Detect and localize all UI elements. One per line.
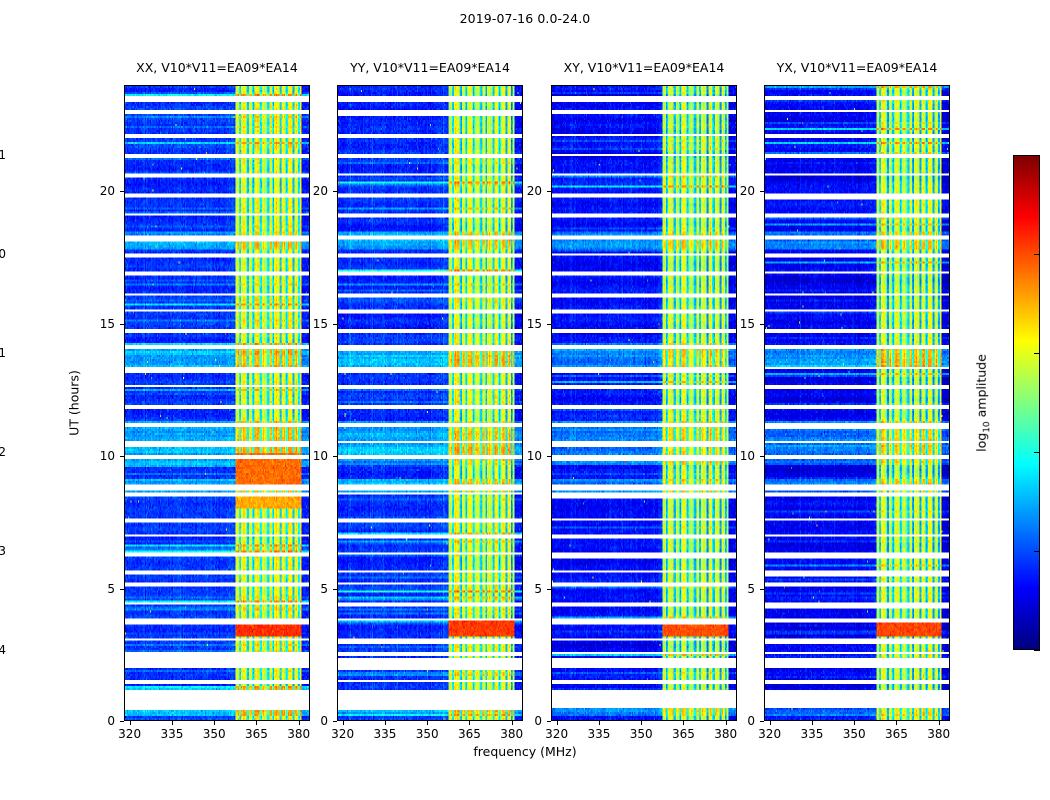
colorbar-label-suffix: amplitude [974, 354, 989, 421]
colorbar-tick-mark [1034, 551, 1040, 552]
y-tick-mark [333, 721, 337, 722]
y-tick-mark [333, 589, 337, 590]
y-tick-mark [547, 589, 551, 590]
x-tick-label: 380 [287, 727, 310, 741]
waterfall-image-yy [338, 86, 522, 720]
y-tick-mark [760, 589, 764, 590]
panel-title-xy: XY, V10*V11=EA09*EA14 [551, 60, 737, 75]
y-tick-mark [760, 191, 764, 192]
colorbar-label: log10 amplitude [974, 354, 993, 452]
y-tick-mark [333, 191, 337, 192]
y-tick-label: 0 [107, 714, 115, 728]
x-tick-mark [256, 721, 257, 725]
y-tick-label: 0 [747, 714, 755, 728]
x-axis-label: frequency (MHz) [0, 744, 1050, 759]
y-tick-mark [333, 324, 337, 325]
colorbar-tick-label: -2 [0, 445, 6, 459]
x-tick-label: 335 [800, 727, 823, 741]
y-tick-label: 5 [107, 582, 115, 596]
y-tick-label: 15 [527, 317, 542, 331]
waterfall-image-yx [765, 86, 949, 720]
x-tick-mark [469, 721, 470, 725]
y-tick-mark [120, 721, 124, 722]
y-tick-label: 10 [313, 449, 328, 463]
y-tick-label: 5 [320, 582, 328, 596]
waterfall-image-xx [125, 86, 309, 720]
x-tick-mark [343, 721, 344, 725]
y-tick-mark [760, 721, 764, 722]
y-tick-label: 15 [100, 317, 115, 331]
y-tick-label: 5 [534, 582, 542, 596]
colorbar-tick-label: 1 [0, 148, 6, 162]
x-tick-mark [896, 721, 897, 725]
waterfall-panel-yx[interactable] [764, 85, 950, 721]
x-tick-label: 365 [245, 727, 268, 741]
x-tick-label: 365 [885, 727, 908, 741]
y-tick-mark [333, 456, 337, 457]
x-tick-label: 320 [545, 727, 568, 741]
x-tick-mark [641, 721, 642, 725]
x-tick-label: 365 [458, 727, 481, 741]
x-tick-mark [385, 721, 386, 725]
panel-title-xx: XX, V10*V11=EA09*EA14 [124, 60, 310, 75]
y-tick-mark [547, 191, 551, 192]
y-tick-mark [547, 456, 551, 457]
y-tick-mark [120, 324, 124, 325]
waterfall-image-xy [552, 86, 736, 720]
colorbar-tick-mark [1034, 452, 1040, 453]
y-tick-label: 15 [740, 317, 755, 331]
x-tick-mark [854, 721, 855, 725]
y-tick-mark [760, 456, 764, 457]
x-tick-mark [214, 721, 215, 725]
panel-title-yy: YY, V10*V11=EA09*EA14 [337, 60, 523, 75]
panel-title-yx: YX, V10*V11=EA09*EA14 [764, 60, 950, 75]
x-tick-label: 350 [203, 727, 226, 741]
y-tick-label: 20 [527, 184, 542, 198]
x-tick-label: 335 [160, 727, 183, 741]
x-tick-label: 335 [373, 727, 396, 741]
x-tick-mark [512, 721, 513, 725]
x-tick-mark [299, 721, 300, 725]
colorbar-label-prefix: log [974, 433, 989, 452]
x-tick-label: 350 [416, 727, 439, 741]
y-tick-mark [120, 191, 124, 192]
colorbar-tick-label: -1 [0, 346, 6, 360]
x-tick-mark [939, 721, 940, 725]
colorbar-tick-label: -4 [0, 643, 6, 657]
y-tick-mark [120, 456, 124, 457]
colorbar-tick-mark [1034, 650, 1040, 651]
waterfall-panel-xy[interactable] [551, 85, 737, 721]
y-axis-label: UT (hours) [67, 370, 82, 436]
y-tick-label: 20 [100, 184, 115, 198]
figure-title: 2019-07-16 0.0-24.0 [0, 11, 1050, 26]
colorbar-tick-mark [1034, 155, 1040, 156]
y-tick-mark [547, 721, 551, 722]
colorbar[interactable] [1013, 155, 1040, 650]
x-tick-label: 350 [630, 727, 653, 741]
y-tick-label: 10 [527, 449, 542, 463]
colorbar-tick-mark [1034, 254, 1040, 255]
x-tick-mark [599, 721, 600, 725]
x-tick-label: 320 [331, 727, 354, 741]
x-tick-label: 380 [500, 727, 523, 741]
y-tick-label: 10 [100, 449, 115, 463]
y-tick-label: 20 [313, 184, 328, 198]
x-tick-mark [172, 721, 173, 725]
waterfall-panel-xx[interactable] [124, 85, 310, 721]
x-tick-mark [812, 721, 813, 725]
figure-canvas: 2019-07-16 0.0-24.0 XX, V10*V11=EA09*EA1… [0, 0, 1050, 800]
x-tick-mark [557, 721, 558, 725]
y-tick-mark [547, 324, 551, 325]
y-tick-label: 10 [740, 449, 755, 463]
x-tick-mark [726, 721, 727, 725]
x-tick-label: 320 [118, 727, 141, 741]
x-tick-label: 320 [758, 727, 781, 741]
x-tick-label: 380 [927, 727, 950, 741]
colorbar-tick-label: 0 [0, 247, 6, 261]
x-tick-mark [130, 721, 131, 725]
y-tick-label: 20 [740, 184, 755, 198]
x-tick-mark [770, 721, 771, 725]
colorbar-tick-mark [1034, 353, 1040, 354]
x-tick-label: 380 [714, 727, 737, 741]
waterfall-panel-yy[interactable] [337, 85, 523, 721]
colorbar-tick-label: -3 [0, 544, 6, 558]
y-tick-mark [760, 324, 764, 325]
colorbar-gradient [1014, 156, 1039, 649]
y-tick-label: 0 [534, 714, 542, 728]
x-tick-mark [683, 721, 684, 725]
x-tick-label: 335 [587, 727, 610, 741]
y-tick-label: 15 [313, 317, 328, 331]
x-tick-label: 365 [672, 727, 695, 741]
x-tick-mark [427, 721, 428, 725]
colorbar-label-subscript: 10 [982, 421, 992, 432]
y-tick-mark [120, 589, 124, 590]
y-tick-label: 0 [320, 714, 328, 728]
y-tick-label: 5 [747, 582, 755, 596]
x-tick-label: 350 [843, 727, 866, 741]
